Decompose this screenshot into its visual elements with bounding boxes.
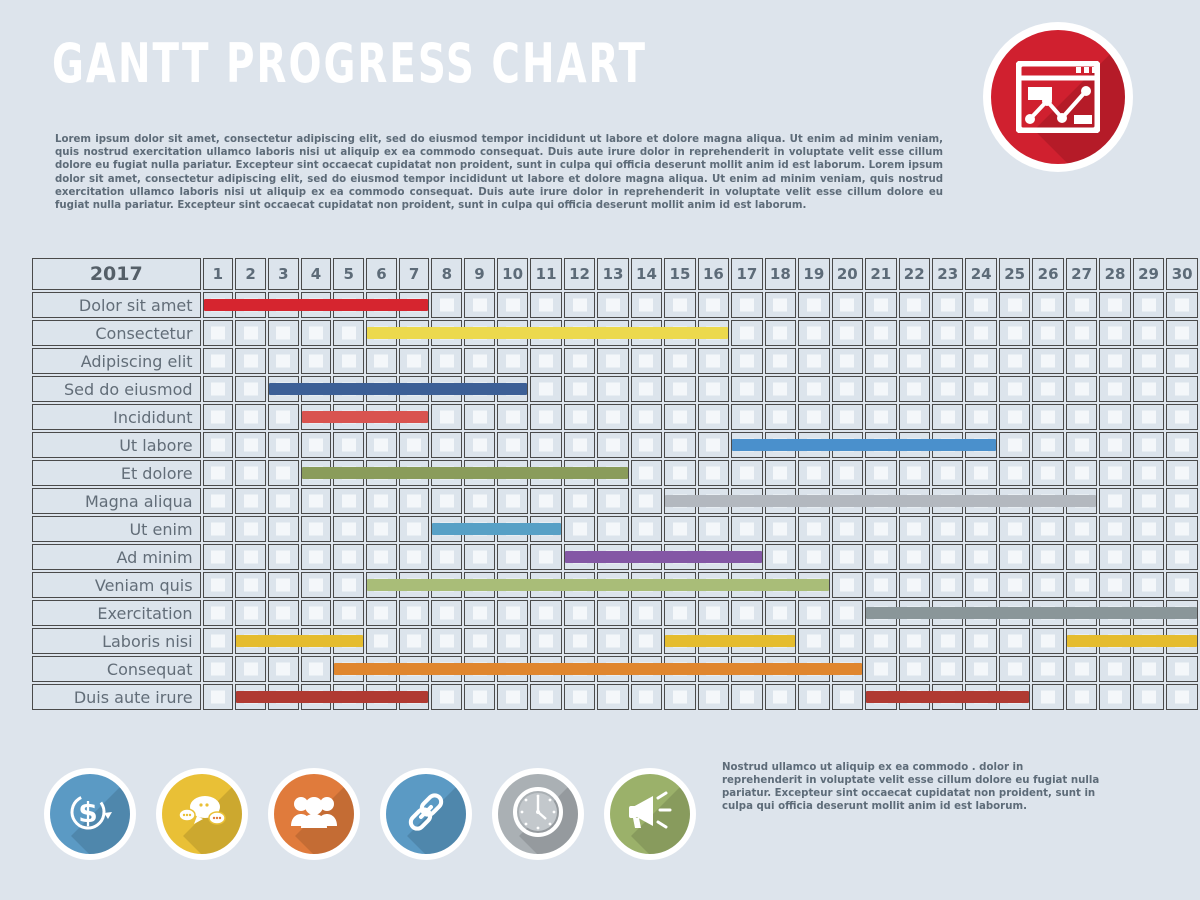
gantt-cell[interactable] [366,404,397,430]
gantt-cell[interactable] [932,348,963,374]
gantt-cell[interactable] [698,376,729,402]
gantt-cell[interactable] [664,488,695,514]
gantt-cell[interactable] [530,460,561,486]
gantt-cell[interactable] [366,488,397,514]
gantt-cell[interactable] [731,684,762,710]
gantt-cell[interactable] [932,600,963,626]
gantt-cell[interactable] [333,348,364,374]
gantt-cell[interactable] [832,572,863,598]
gantt-cell[interactable] [1099,376,1130,402]
gantt-cell[interactable] [301,320,332,346]
gantt-cell[interactable] [1066,432,1097,458]
gantt-cell[interactable] [865,516,896,542]
gantt-cell[interactable] [798,432,829,458]
gantt-cell[interactable] [301,292,332,318]
gantt-cell[interactable] [464,516,495,542]
gantt-cell[interactable] [932,320,963,346]
gantt-cell[interactable] [464,320,495,346]
gantt-cell[interactable] [865,684,896,710]
gantt-cell[interactable] [999,516,1030,542]
gantt-cell[interactable] [1133,656,1164,682]
gantt-cell[interactable] [798,376,829,402]
gantt-cell[interactable] [497,600,528,626]
gantt-cell[interactable] [631,404,662,430]
gantt-cell[interactable] [932,572,963,598]
gantt-cell[interactable] [899,348,930,374]
footer-icon-megaphone[interactable] [604,768,696,860]
gantt-cell[interactable] [464,544,495,570]
gantt-cell[interactable] [999,292,1030,318]
gantt-cell[interactable] [399,628,430,654]
gantt-cell[interactable] [865,348,896,374]
gantt-cell[interactable] [530,432,561,458]
gantt-cell[interactable] [664,516,695,542]
gantt-cell[interactable] [203,432,234,458]
gantt-cell[interactable] [497,404,528,430]
gantt-cell[interactable] [1099,404,1130,430]
gantt-cell[interactable] [932,376,963,402]
gantt-cell[interactable] [235,572,266,598]
gantt-cell[interactable] [798,348,829,374]
gantt-cell[interactable] [235,432,266,458]
gantt-cell[interactable] [1133,628,1164,654]
gantt-cell[interactable] [1133,376,1164,402]
gantt-cell[interactable] [301,544,332,570]
gantt-cell[interactable] [731,376,762,402]
gantt-cell[interactable] [765,348,796,374]
gantt-cell[interactable] [698,684,729,710]
gantt-cell[interactable] [497,516,528,542]
gantt-cell[interactable] [865,628,896,654]
gantt-cell[interactable] [832,404,863,430]
gantt-cell[interactable] [431,348,462,374]
gantt-cell[interactable] [1099,572,1130,598]
gantt-cell[interactable] [698,488,729,514]
gantt-cell[interactable] [1166,292,1198,318]
gantt-cell[interactable] [399,656,430,682]
gantt-cell[interactable] [366,460,397,486]
gantt-cell[interactable] [765,516,796,542]
gantt-cell[interactable] [999,376,1030,402]
gantt-cell[interactable] [1032,544,1063,570]
gantt-cell[interactable] [965,600,996,626]
gantt-cell[interactable] [564,544,595,570]
gantt-cell[interactable] [731,628,762,654]
gantt-cell[interactable] [965,516,996,542]
gantt-cell[interactable] [431,320,462,346]
gantt-cell[interactable] [366,628,397,654]
gantt-cell[interactable] [431,376,462,402]
gantt-cell[interactable] [1032,516,1063,542]
gantt-cell[interactable] [865,320,896,346]
task-label[interactable]: Consectetur [32,320,201,346]
gantt-cell[interactable] [268,404,299,430]
gantt-cell[interactable] [698,656,729,682]
gantt-cell[interactable] [1166,460,1198,486]
gantt-cell[interactable] [1032,320,1063,346]
gantt-cell[interactable] [899,404,930,430]
gantt-cell[interactable] [399,348,430,374]
gantt-cell[interactable] [530,320,561,346]
gantt-cell[interactable] [731,292,762,318]
gantt-cell[interactable] [731,656,762,682]
gantt-cell[interactable] [1166,544,1198,570]
footer-icon-dollar[interactable]: $ [44,768,136,860]
gantt-cell[interactable] [1032,656,1063,682]
gantt-cell[interactable] [564,516,595,542]
gantt-cell[interactable] [631,460,662,486]
gantt-cell[interactable] [497,656,528,682]
gantt-cell[interactable] [698,292,729,318]
gantt-cell[interactable] [999,544,1030,570]
gantt-cell[interactable] [497,376,528,402]
gantt-cell[interactable] [1166,684,1198,710]
gantt-cell[interactable] [597,292,628,318]
gantt-cell[interactable] [431,600,462,626]
gantt-cell[interactable] [631,572,662,598]
gantt-cell[interactable] [366,656,397,682]
gantt-cell[interactable] [333,292,364,318]
gantt-cell[interactable] [1099,516,1130,542]
gantt-cell[interactable] [664,320,695,346]
gantt-cell[interactable] [1166,572,1198,598]
gantt-cell[interactable] [564,376,595,402]
gantt-cell[interactable] [1066,348,1097,374]
gantt-cell[interactable] [235,684,266,710]
gantt-cell[interactable] [530,572,561,598]
gantt-cell[interactable] [798,544,829,570]
gantt-cell[interactable] [268,320,299,346]
gantt-cell[interactable] [765,376,796,402]
gantt-cell[interactable] [203,544,234,570]
gantt-cell[interactable] [235,460,266,486]
gantt-cell[interactable] [399,376,430,402]
gantt-cell[interactable] [333,600,364,626]
gantt-cell[interactable] [999,460,1030,486]
gantt-cell[interactable] [268,292,299,318]
gantt-cell[interactable] [999,656,1030,682]
gantt-cell[interactable] [597,628,628,654]
gantt-cell[interactable] [999,572,1030,598]
gantt-cell[interactable] [1099,460,1130,486]
gantt-cell[interactable] [698,600,729,626]
task-label[interactable]: Incididunt [32,404,201,430]
gantt-cell[interactable] [497,684,528,710]
gantt-cell[interactable] [1166,600,1198,626]
footer-icon-link-chain[interactable] [380,768,472,860]
gantt-cell[interactable] [366,376,397,402]
gantt-cell[interactable] [899,572,930,598]
gantt-cell[interactable] [865,544,896,570]
gantt-cell[interactable] [1066,544,1097,570]
gantt-cell[interactable] [1099,628,1130,654]
gantt-cell[interactable] [431,292,462,318]
gantt-cell[interactable] [1166,320,1198,346]
task-label[interactable]: Ut enim [32,516,201,542]
gantt-cell[interactable] [530,348,561,374]
gantt-cell[interactable] [564,460,595,486]
gantt-cell[interactable] [564,488,595,514]
gantt-cell[interactable] [1133,460,1164,486]
gantt-cell[interactable] [965,460,996,486]
gantt-cell[interactable] [999,432,1030,458]
task-label[interactable]: Sed do eiusmod [32,376,201,402]
gantt-cell[interactable] [366,600,397,626]
gantt-cell[interactable] [268,516,299,542]
gantt-cell[interactable] [999,684,1030,710]
gantt-cell[interactable] [597,348,628,374]
gantt-cell[interactable] [932,656,963,682]
gantt-cell[interactable] [399,404,430,430]
gantt-cell[interactable] [333,544,364,570]
gantt-cell[interactable] [530,600,561,626]
gantt-cell[interactable] [268,600,299,626]
gantt-cell[interactable] [965,572,996,598]
gantt-cell[interactable] [235,544,266,570]
gantt-cell[interactable] [899,320,930,346]
gantt-cell[interactable] [203,572,234,598]
gantt-cell[interactable] [301,572,332,598]
gantt-cell[interactable] [399,544,430,570]
gantt-cell[interactable] [431,460,462,486]
gantt-cell[interactable] [832,684,863,710]
gantt-cell[interactable] [497,488,528,514]
task-label[interactable]: Ut labore [32,432,201,458]
gantt-cell[interactable] [464,404,495,430]
gantt-cell[interactable] [301,432,332,458]
gantt-cell[interactable] [932,292,963,318]
gantt-cell[interactable] [564,348,595,374]
gantt-cell[interactable] [798,488,829,514]
gantt-cell[interactable] [1133,572,1164,598]
gantt-cell[interactable] [999,320,1030,346]
gantt-cell[interactable] [333,460,364,486]
gantt-cell[interactable] [798,656,829,682]
gantt-cell[interactable] [301,628,332,654]
gantt-cell[interactable] [698,460,729,486]
gantt-cell[interactable] [431,628,462,654]
gantt-cell[interactable] [597,544,628,570]
gantt-cell[interactable] [497,320,528,346]
gantt-cell[interactable] [1133,320,1164,346]
gantt-cell[interactable] [333,572,364,598]
gantt-cell[interactable] [932,488,963,514]
gantt-cell[interactable] [431,432,462,458]
gantt-cell[interactable] [235,600,266,626]
gantt-cell[interactable] [965,348,996,374]
gantt-cell[interactable] [631,544,662,570]
gantt-cell[interactable] [203,684,234,710]
gantt-cell[interactable] [631,516,662,542]
gantt-cell[interactable] [497,544,528,570]
gantt-cell[interactable] [366,516,397,542]
gantt-cell[interactable] [1032,404,1063,430]
gantt-cell[interactable] [268,544,299,570]
gantt-cell[interactable] [203,628,234,654]
gantt-cell[interactable] [431,684,462,710]
gantt-cell[interactable] [464,600,495,626]
gantt-cell[interactable] [899,432,930,458]
gantt-cell[interactable] [268,432,299,458]
gantt-cell[interactable] [203,460,234,486]
gantt-cell[interactable] [597,656,628,682]
gantt-cell[interactable] [564,572,595,598]
gantt-cell[interactable] [1066,488,1097,514]
gantt-cell[interactable] [203,348,234,374]
gantt-cell[interactable] [1032,376,1063,402]
gantt-cell[interactable] [268,656,299,682]
gantt-cell[interactable] [431,516,462,542]
gantt-cell[interactable] [899,600,930,626]
footer-icon-clock[interactable] [492,768,584,860]
gantt-cell[interactable] [765,628,796,654]
gantt-cell[interactable] [798,292,829,318]
gantt-cell[interactable] [765,488,796,514]
gantt-cell[interactable] [597,376,628,402]
gantt-cell[interactable] [899,544,930,570]
gantt-cell[interactable] [832,432,863,458]
gantt-cell[interactable] [664,656,695,682]
gantt-cell[interactable] [203,516,234,542]
gantt-cell[interactable] [731,572,762,598]
gantt-cell[interactable] [899,292,930,318]
gantt-cell[interactable] [1066,600,1097,626]
gantt-cell[interactable] [899,488,930,514]
gantt-cell[interactable] [899,516,930,542]
gantt-cell[interactable] [564,684,595,710]
gantt-cell[interactable] [965,292,996,318]
footer-icon-people-group[interactable] [268,768,360,860]
gantt-cell[interactable] [899,656,930,682]
gantt-cell[interactable] [865,432,896,458]
gantt-cell[interactable] [301,376,332,402]
gantt-cell[interactable] [1066,320,1097,346]
gantt-cell[interactable] [497,572,528,598]
gantt-cell[interactable] [798,684,829,710]
gantt-cell[interactable] [698,516,729,542]
gantt-cell[interactable] [865,292,896,318]
gantt-cell[interactable] [1066,516,1097,542]
gantt-cell[interactable] [497,460,528,486]
gantt-cell[interactable] [932,404,963,430]
gantt-cell[interactable] [564,292,595,318]
gantt-cell[interactable] [631,292,662,318]
gantt-cell[interactable] [301,404,332,430]
gantt-cell[interactable] [203,292,234,318]
gantt-cell[interactable] [731,404,762,430]
gantt-cell[interactable] [530,292,561,318]
gantt-cell[interactable] [1133,348,1164,374]
task-label[interactable]: Et dolore [32,460,201,486]
gantt-cell[interactable] [731,348,762,374]
gantt-cell[interactable] [664,376,695,402]
gantt-cell[interactable] [301,656,332,682]
gantt-cell[interactable] [333,656,364,682]
gantt-cell[interactable] [765,684,796,710]
gantt-cell[interactable] [399,460,430,486]
task-label[interactable]: Magna aliqua [32,488,201,514]
gantt-cell[interactable] [431,488,462,514]
gantt-cell[interactable] [333,404,364,430]
gantt-cell[interactable] [664,600,695,626]
gantt-cell[interactable] [631,376,662,402]
gantt-cell[interactable] [333,684,364,710]
gantt-cell[interactable] [597,516,628,542]
gantt-cell[interactable] [464,348,495,374]
gantt-cell[interactable] [564,320,595,346]
gantt-cell[interactable] [832,292,863,318]
gantt-cell[interactable] [731,432,762,458]
gantt-cell[interactable] [399,516,430,542]
gantt-cell[interactable] [798,572,829,598]
gantt-cell[interactable] [1032,348,1063,374]
gantt-cell[interactable] [999,628,1030,654]
gantt-cell[interactable] [464,628,495,654]
gantt-cell[interactable] [1166,488,1198,514]
gantt-cell[interactable] [664,404,695,430]
gantt-cell[interactable] [965,376,996,402]
gantt-cell[interactable] [664,292,695,318]
gantt-cell[interactable] [497,292,528,318]
gantt-cell[interactable] [235,404,266,430]
gantt-cell[interactable] [1099,600,1130,626]
gantt-cell[interactable] [1066,404,1097,430]
gantt-cell[interactable] [631,488,662,514]
gantt-cell[interactable] [865,376,896,402]
gantt-cell[interactable] [301,684,332,710]
gantt-cell[interactable] [698,572,729,598]
footer-icon-chat-bubbles[interactable] [156,768,248,860]
gantt-cell[interactable] [832,544,863,570]
gantt-cell[interactable] [1032,432,1063,458]
gantt-cell[interactable] [530,544,561,570]
gantt-cell[interactable] [899,628,930,654]
gantt-cell[interactable] [464,432,495,458]
gantt-cell[interactable] [698,320,729,346]
gantt-cell[interactable] [1066,376,1097,402]
gantt-cell[interactable] [932,432,963,458]
gantt-cell[interactable] [1032,572,1063,598]
gantt-cell[interactable] [1166,628,1198,654]
gantt-cell[interactable] [798,404,829,430]
gantt-cell[interactable] [932,628,963,654]
gantt-cell[interactable] [530,656,561,682]
gantt-cell[interactable] [399,432,430,458]
gantt-cell[interactable] [530,516,561,542]
gantt-cell[interactable] [965,404,996,430]
gantt-cell[interactable] [1166,516,1198,542]
gantt-cell[interactable] [268,488,299,514]
gantt-cell[interactable] [464,460,495,486]
gantt-cell[interactable] [564,432,595,458]
gantt-cell[interactable] [765,432,796,458]
gantt-cell[interactable] [631,348,662,374]
gantt-cell[interactable] [631,656,662,682]
gantt-cell[interactable] [731,516,762,542]
gantt-cell[interactable] [1099,488,1130,514]
gantt-cell[interactable] [1066,684,1097,710]
gantt-cell[interactable] [798,516,829,542]
gantt-cell[interactable] [268,348,299,374]
gantt-cell[interactable] [631,684,662,710]
gantt-cell[interactable] [1099,432,1130,458]
gantt-cell[interactable] [464,684,495,710]
gantt-cell[interactable] [664,432,695,458]
gantt-cell[interactable] [999,488,1030,514]
gantt-cell[interactable] [301,348,332,374]
gantt-cell[interactable] [597,600,628,626]
gantt-cell[interactable] [464,488,495,514]
